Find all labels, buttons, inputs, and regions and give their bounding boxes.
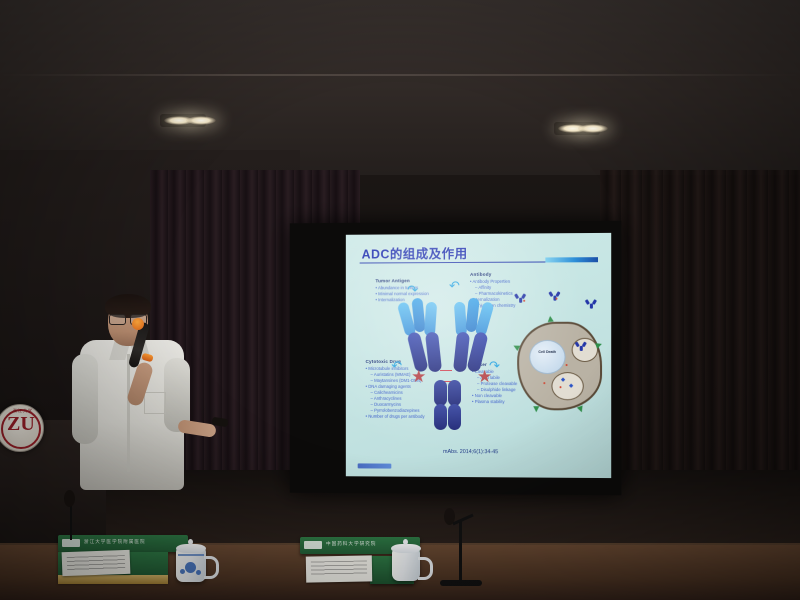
callout-arrow-tumor-antigen: ↷ <box>407 282 418 298</box>
paper-sheet-left <box>62 550 131 576</box>
title-accent-bar <box>545 257 598 262</box>
projection-screen[interactable]: ADC的组成及作用 Tumor Antigen Abundance in tum… <box>290 221 622 496</box>
speaker-left-arm <box>72 354 98 444</box>
teacup-band <box>178 554 204 556</box>
ceiling-seam <box>0 74 800 76</box>
receptor-icon <box>547 315 554 322</box>
teacup-knob <box>188 539 193 545</box>
paper-text-lines <box>311 561 367 576</box>
antibody-fc <box>434 380 447 406</box>
microphone-stand-pole <box>459 520 462 582</box>
block-heading: Antibody <box>470 272 515 279</box>
callout-arrow-antibody: ↶ <box>449 278 460 294</box>
paper-text-lines <box>67 555 125 571</box>
nameplate-logo <box>62 539 80 547</box>
receptor-icon <box>533 406 539 412</box>
slide-title: ADC的组成及作用 <box>362 243 468 263</box>
cell-nucleus <box>529 340 565 374</box>
callout-arrow-cytotoxic-drug: ↶ <box>391 358 402 374</box>
teacup-left <box>176 548 206 582</box>
nameplate-logo <box>304 541 322 549</box>
receptor-icon <box>595 341 603 349</box>
antibody-fc <box>434 404 447 430</box>
emblem-glyph: ZU <box>7 413 35 436</box>
lysosome-vesicle <box>551 372 583 400</box>
nameplate-text: 浙江大学医学院附属医院 <box>84 539 146 545</box>
slide-canvas: ADC的组成及作用 Tumor Antigen Abundance in tum… <box>346 233 611 478</box>
teacup-lid <box>176 544 206 553</box>
slide-citation: mAbs. 2014;6(1):34-45 <box>443 449 498 455</box>
antibody-fab <box>425 331 442 372</box>
teacup-lid <box>391 544 421 553</box>
shirt-pocket <box>144 392 166 414</box>
teacup-knob <box>403 539 408 545</box>
teacup-floral-decor <box>196 570 201 575</box>
block-heading: Tumor Antigen <box>375 278 428 285</box>
antibody-fc <box>448 380 461 406</box>
teacup-handle <box>204 556 219 579</box>
antibody-fc <box>448 404 461 430</box>
ceiling-light-right-b <box>578 124 608 133</box>
callout-arrow-linker: ↷ <box>489 358 500 374</box>
nameplate-text: 中国药科大学研究院 <box>326 541 376 547</box>
slide-logo-watermark <box>358 463 392 468</box>
teacup-floral-decor <box>185 562 196 573</box>
paper-sheet-right <box>306 555 372 582</box>
teacup-handle <box>418 557 433 580</box>
teacup-floral-decor <box>180 569 185 574</box>
teacup-right <box>392 549 420 581</box>
cell-death-label: Cell Death <box>538 350 556 354</box>
presentation-room-photo: ADC的组成及作用 Tumor Antigen Abundance in tum… <box>0 0 800 600</box>
microphone-stand-base <box>440 580 482 586</box>
floor-mic-capsule <box>64 490 75 507</box>
receptor-icon <box>577 406 585 414</box>
book-page-edge-left <box>58 575 168 584</box>
glasses-lens-left <box>109 314 126 325</box>
microphone-stand-capsule <box>444 508 455 525</box>
adc-molecule-icon <box>586 300 597 309</box>
ceiling-light-left-b <box>186 116 216 125</box>
shirt-placket <box>127 354 130 472</box>
adc-molecule-icon <box>576 342 587 351</box>
cell-uptake-diagram: Cell Death <box>503 285 608 436</box>
speaker <box>72 296 204 496</box>
antibody-diagram: ★ ★ ↷ ↶ ↶ ↷ <box>393 296 499 446</box>
